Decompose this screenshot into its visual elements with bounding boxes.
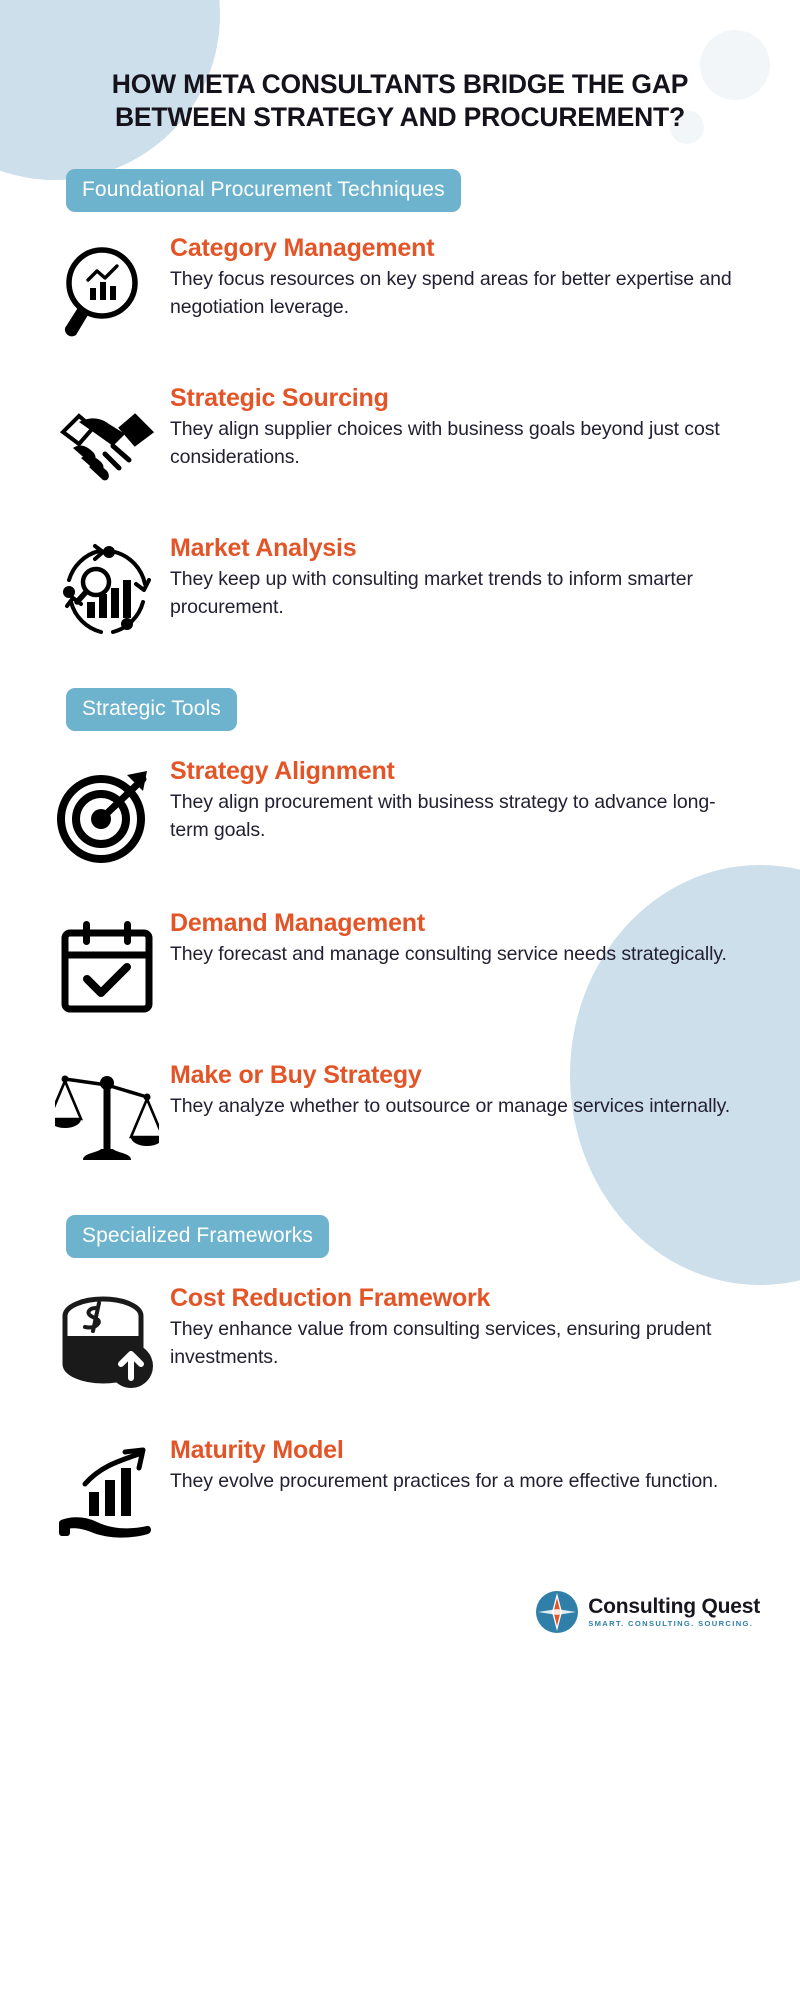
calendar-check-icon xyxy=(48,909,166,1019)
list-item-make-or-buy-strategy: Make or Buy Strategy They analyze whethe… xyxy=(0,1061,800,1171)
item-description: They evolve procurement practices for a … xyxy=(170,1468,748,1496)
infographic-content: HOW META CONSULTANTS BRIDGE THE GAP BETW… xyxy=(0,0,800,1634)
list-item-body: Maturity Model They evolve procurement p… xyxy=(166,1436,748,1496)
logo-text-block: Consulting Quest SMART. CONSULTING. SOUR… xyxy=(588,1596,760,1628)
item-title: Maturity Model xyxy=(170,1436,748,1466)
coin-stack-arrow-icon xyxy=(48,1284,166,1394)
list-item-body: Strategy Alignment They align procuremen… xyxy=(166,757,748,845)
list-item-cost-reduction-framework: Cost Reduction Framework They enhance va… xyxy=(0,1284,800,1394)
target-dart-icon xyxy=(48,757,166,867)
item-title: Strategic Sourcing xyxy=(170,384,748,414)
list-item-strategy-alignment: Strategy Alignment They align procuremen… xyxy=(0,757,800,867)
footer-logo: Consulting Quest SMART. CONSULTING. SOUR… xyxy=(0,1590,800,1634)
list-item-maturity-model: Maturity Model They evolve procurement p… xyxy=(0,1436,800,1546)
logo-name: Consulting Quest xyxy=(588,1596,760,1617)
section-badge-strategic-tools: Strategic Tools xyxy=(66,688,237,731)
list-item-body: Demand Management They forecast and mana… xyxy=(166,909,748,969)
logo-tagline: SMART. CONSULTING. SOURCING. xyxy=(588,1620,760,1628)
list-item-body: Market Analysis They keep up with consul… xyxy=(166,534,748,622)
item-title: Demand Management xyxy=(170,909,748,939)
item-title: Strategy Alignment xyxy=(170,757,748,787)
item-title: Make or Buy Strategy xyxy=(170,1061,748,1091)
list-item-strategic-sourcing: Strategic Sourcing They align supplier c… xyxy=(0,384,800,494)
infographic-page: HOW META CONSULTANTS BRIDGE THE GAP BETW… xyxy=(0,0,800,2000)
list-item-body: Category Management They focus resources… xyxy=(166,234,748,322)
item-description: They align procurement with business str… xyxy=(170,789,748,844)
balance-scale-icon xyxy=(48,1061,166,1171)
list-item-market-analysis: Market Analysis They keep up with consul… xyxy=(0,534,800,644)
item-description: They align supplier choices with busines… xyxy=(170,416,748,471)
item-description: They analyze whether to outsource or man… xyxy=(170,1093,748,1121)
item-description: They focus resources on key spend areas … xyxy=(170,266,748,321)
item-title: Category Management xyxy=(170,234,748,264)
handshake-icon xyxy=(48,384,166,494)
item-description: They enhance value from consulting servi… xyxy=(170,1316,748,1371)
section-badge-row-2: Strategic Tools xyxy=(0,688,800,731)
list-item-demand-management: Demand Management They forecast and mana… xyxy=(0,909,800,1019)
list-item-category-management: Category Management They focus resources… xyxy=(0,234,800,344)
title-wrap: HOW META CONSULTANTS BRIDGE THE GAP BETW… xyxy=(0,0,800,135)
market-analysis-cycle-icon xyxy=(48,534,166,644)
section-badge-row-1: Foundational Procurement Techniques xyxy=(0,169,800,212)
magnifier-bar-chart-icon xyxy=(48,234,166,344)
section-badge-specialized-frameworks: Specialized Frameworks xyxy=(66,1215,329,1258)
item-title: Cost Reduction Framework xyxy=(170,1284,748,1314)
item-description: They forecast and manage consulting serv… xyxy=(170,941,748,969)
list-item-body: Cost Reduction Framework They enhance va… xyxy=(166,1284,748,1372)
section-badge-foundational-procurement-techniques: Foundational Procurement Techniques xyxy=(66,169,461,212)
consulting-quest-compass-icon xyxy=(535,1590,579,1634)
section-badge-row-3: Specialized Frameworks xyxy=(0,1215,800,1258)
item-description: They keep up with consulting market tren… xyxy=(170,566,748,621)
page-title: HOW META CONSULTANTS BRIDGE THE GAP BETW… xyxy=(78,68,722,135)
hand-growth-chart-icon xyxy=(48,1436,166,1546)
list-item-body: Make or Buy Strategy They analyze whethe… xyxy=(166,1061,748,1121)
item-title: Market Analysis xyxy=(170,534,748,564)
list-item-body: Strategic Sourcing They align supplier c… xyxy=(166,384,748,472)
